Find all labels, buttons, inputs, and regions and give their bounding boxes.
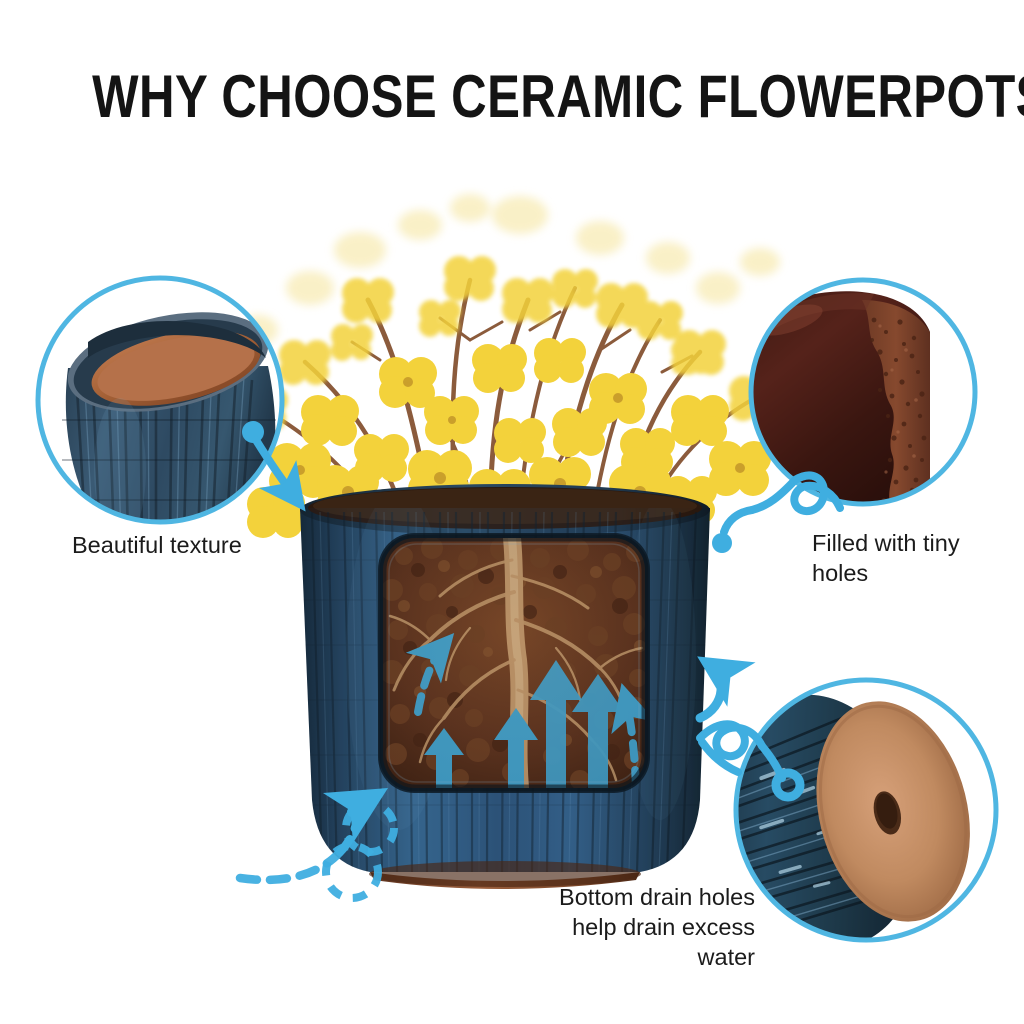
label-line-3: water [698,944,755,970]
callout-label-beautiful-texture: Beautiful texture [72,530,362,560]
callout-label-tiny-holes: Filled with tinyholes [812,528,1022,588]
label-line-1: Bottom drain holes [559,884,755,910]
label-line-2: holes [812,560,868,586]
label-line-2: help drain excess [572,914,755,940]
label-line-1: Filled with tiny [812,530,960,556]
callout-label-bottom-drain-holes: Bottom drain holeshelp drain excesswater [505,882,755,972]
soil-cutaway-window [378,533,650,793]
infographic-canvas: WHY CHOOSE CERAMIC FLOWERPOTS [0,0,1024,1024]
illustration-layer [0,0,1024,1024]
callout-tiny-holes[interactable] [712,280,975,553]
